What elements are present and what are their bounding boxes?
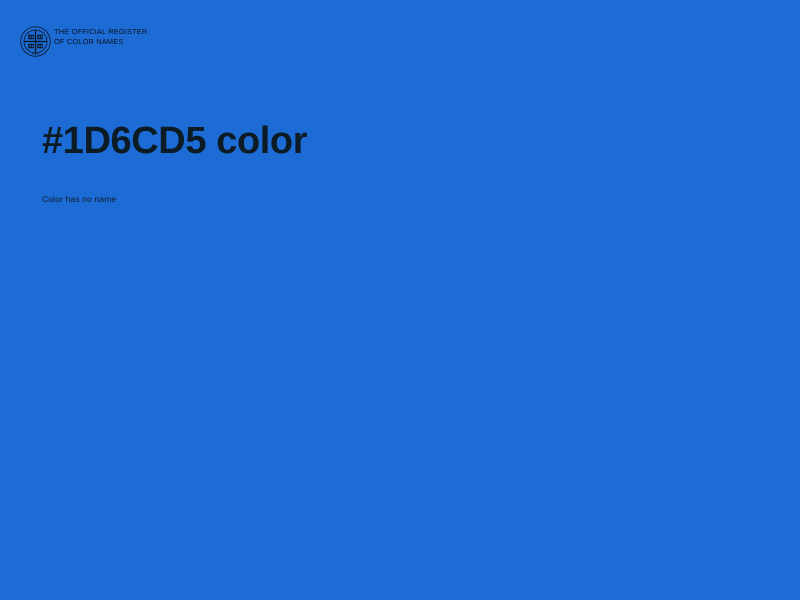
color-page: THE OFFICIAL REGISTER OF COLOR NAMES #1D… [0,0,800,600]
site-brand[interactable]: THE OFFICIAL REGISTER OF COLOR NAMES [20,26,147,57]
brand-wordmark-line-2: OF COLOR NAMES [54,37,147,47]
color-info-block: #1D6CD5 color Color has no name [42,118,742,205]
page-title: #1D6CD5 color [42,118,742,164]
brand-wordmark: THE OFFICIAL REGISTER OF COLOR NAMES [54,27,147,46]
color-name-status: Color has no name [42,164,742,205]
brand-wordmark-line-1: THE OFFICIAL REGISTER [54,27,147,37]
register-seal-icon [20,26,51,57]
